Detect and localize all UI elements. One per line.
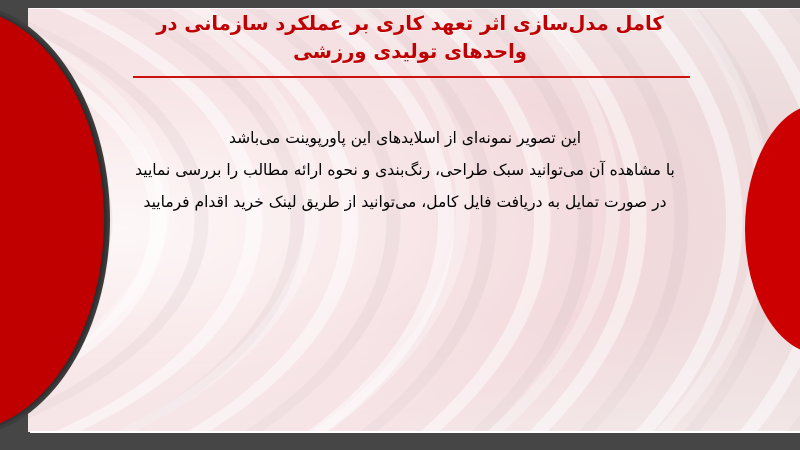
panel-sheen-overlay [28,8,800,432]
slide-canvas: کامل مدل‌سازی اثر تعهد کاری بر عملکرد سا… [0,0,800,450]
slide-title-line-1: کامل مدل‌سازی اثر تعهد کاری بر عملکرد سا… [120,10,700,38]
slide-content-panel [28,8,800,432]
body-line-2: با مشاهده آن می‌توانید سبک طراحی، رنگ‌بن… [110,154,700,186]
slide-body-text: این تصویر نمونه‌ای از اسلایدهای این پاور… [110,122,700,219]
slide-title-line-2: واحدهای تولیدی ورزشی [120,38,700,66]
panel-bottom-hairline [30,431,800,433]
body-line-1: این تصویر نمونه‌ای از اسلایدهای این پاور… [110,122,700,154]
body-line-3: در صورت تمایل به دریافت فایل کامل، می‌تو… [110,186,700,218]
slide-title: کامل مدل‌سازی اثر تعهد کاری بر عملکرد سا… [120,10,700,65]
panel-top-hairline [30,8,800,9]
title-divider-rule [133,76,690,78]
